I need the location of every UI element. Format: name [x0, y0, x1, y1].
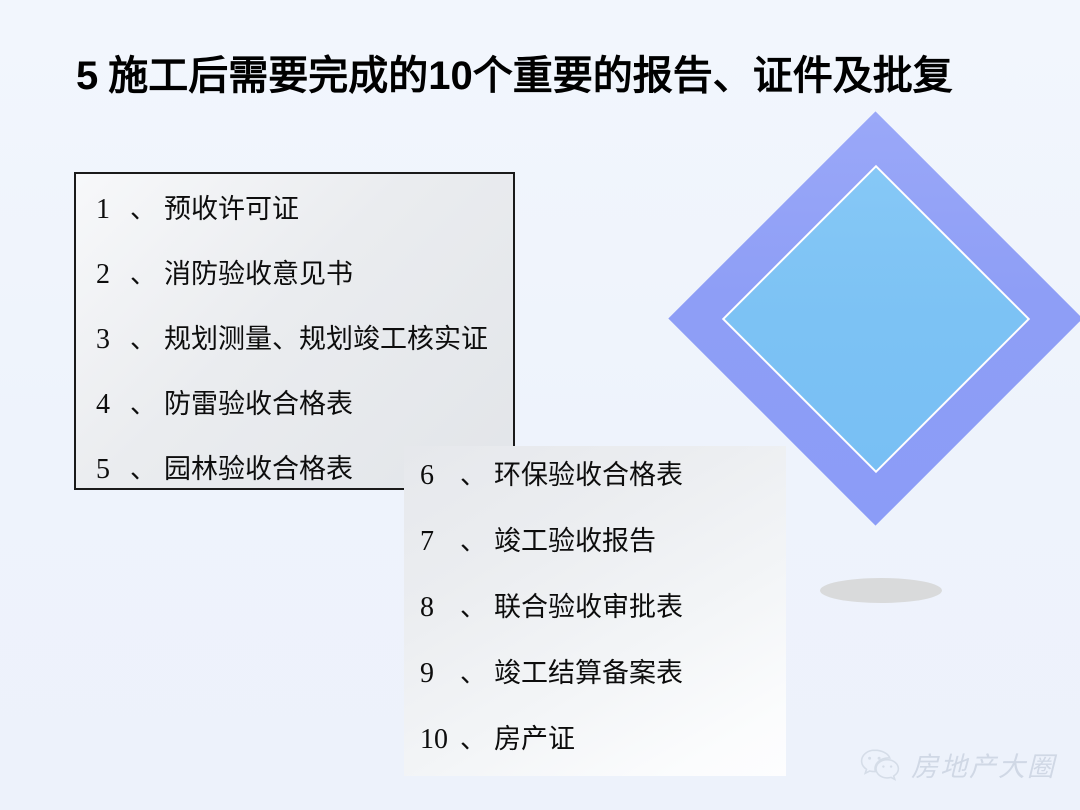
list-item-separator: 、	[130, 456, 164, 482]
list-item-number: 1	[96, 196, 130, 224]
page-title: 5施工后需要完成的10个重要的报告、证件及批复	[76, 54, 1026, 98]
diamond-drop-shadow	[820, 578, 942, 603]
page-title-text: 施工后需要完成的10个重要的报告、证件及批复	[108, 54, 953, 98]
list-item-label: 消防验收意见书	[164, 261, 353, 288]
list-item-separator: 、	[460, 528, 494, 554]
list-item-separator: 、	[460, 726, 494, 752]
watermark: 房地产大圈	[859, 745, 1056, 784]
list-item: 6 、 环保验收合格表	[420, 462, 786, 490]
list-item: 7 、 竣工验收报告	[420, 528, 786, 556]
page-title-number: 5	[76, 54, 108, 98]
list-item-separator: 、	[460, 594, 494, 620]
list-item-separator: 、	[460, 660, 494, 686]
list-item-number: 5	[96, 456, 130, 484]
list-box-second-half: 6 、 环保验收合格表 7 、 竣工验收报告 8 、 联合验收审批表 9 、 竣…	[404, 446, 786, 776]
diamond-inner-shape	[722, 165, 1030, 473]
wechat-icon	[859, 748, 901, 782]
list-item-number: 2	[96, 261, 130, 289]
list-item-separator: 、	[460, 462, 494, 488]
list-item-number: 3	[96, 326, 130, 354]
list-item: 8 、 联合验收审批表	[420, 594, 786, 622]
list-item-label: 竣工验收报告	[494, 528, 656, 555]
list-item: 1 、 预收许可证	[96, 196, 513, 224]
list-item-number: 10	[420, 726, 460, 754]
list-item-separator: 、	[130, 261, 164, 287]
list-item-number: 9	[420, 660, 460, 688]
list-item: 9 、 竣工结算备案表	[420, 660, 786, 688]
list-box-first-half: 1 、 预收许可证 2 、 消防验收意见书 3 、 规划测量、规划竣工核实证 4…	[74, 172, 515, 490]
list-item-separator: 、	[130, 326, 164, 352]
list-items-6-10: 6 、 环保验收合格表 7 、 竣工验收报告 8 、 联合验收审批表 9 、 竣…	[420, 462, 786, 754]
list-item: 4 、 防雷验收合格表	[96, 391, 513, 419]
list-item-label: 预收许可证	[164, 196, 299, 223]
list-item-label: 园林验收合格表	[164, 456, 353, 483]
slide-canvas: 5施工后需要完成的10个重要的报告、证件及批复 1 、 预收许可证 2 、 消防…	[0, 0, 1080, 810]
list-item: 2 、 消防验收意见书	[96, 261, 513, 289]
list-item-number: 6	[420, 462, 460, 490]
list-item-label: 防雷验收合格表	[164, 391, 353, 418]
list-item-number: 7	[420, 528, 460, 556]
list-item-separator: 、	[130, 196, 164, 222]
watermark-label: 房地产大圈	[911, 745, 1056, 784]
list-item-separator: 、	[130, 391, 164, 417]
list-item-label: 规划测量、规划竣工核实证	[164, 326, 488, 353]
list-item-number: 4	[96, 391, 130, 419]
list-items-1-5: 1 、 预收许可证 2 、 消防验收意见书 3 、 规划测量、规划竣工核实证 4…	[96, 196, 513, 484]
list-item: 10 、 房产证	[420, 726, 786, 754]
list-item: 3 、 规划测量、规划竣工核实证	[96, 326, 513, 354]
list-item-label: 房产证	[494, 726, 575, 753]
list-item-label: 竣工结算备案表	[494, 660, 683, 687]
list-item-label: 联合验收审批表	[494, 594, 683, 621]
list-item-number: 8	[420, 594, 460, 622]
list-item-label: 环保验收合格表	[494, 462, 683, 489]
